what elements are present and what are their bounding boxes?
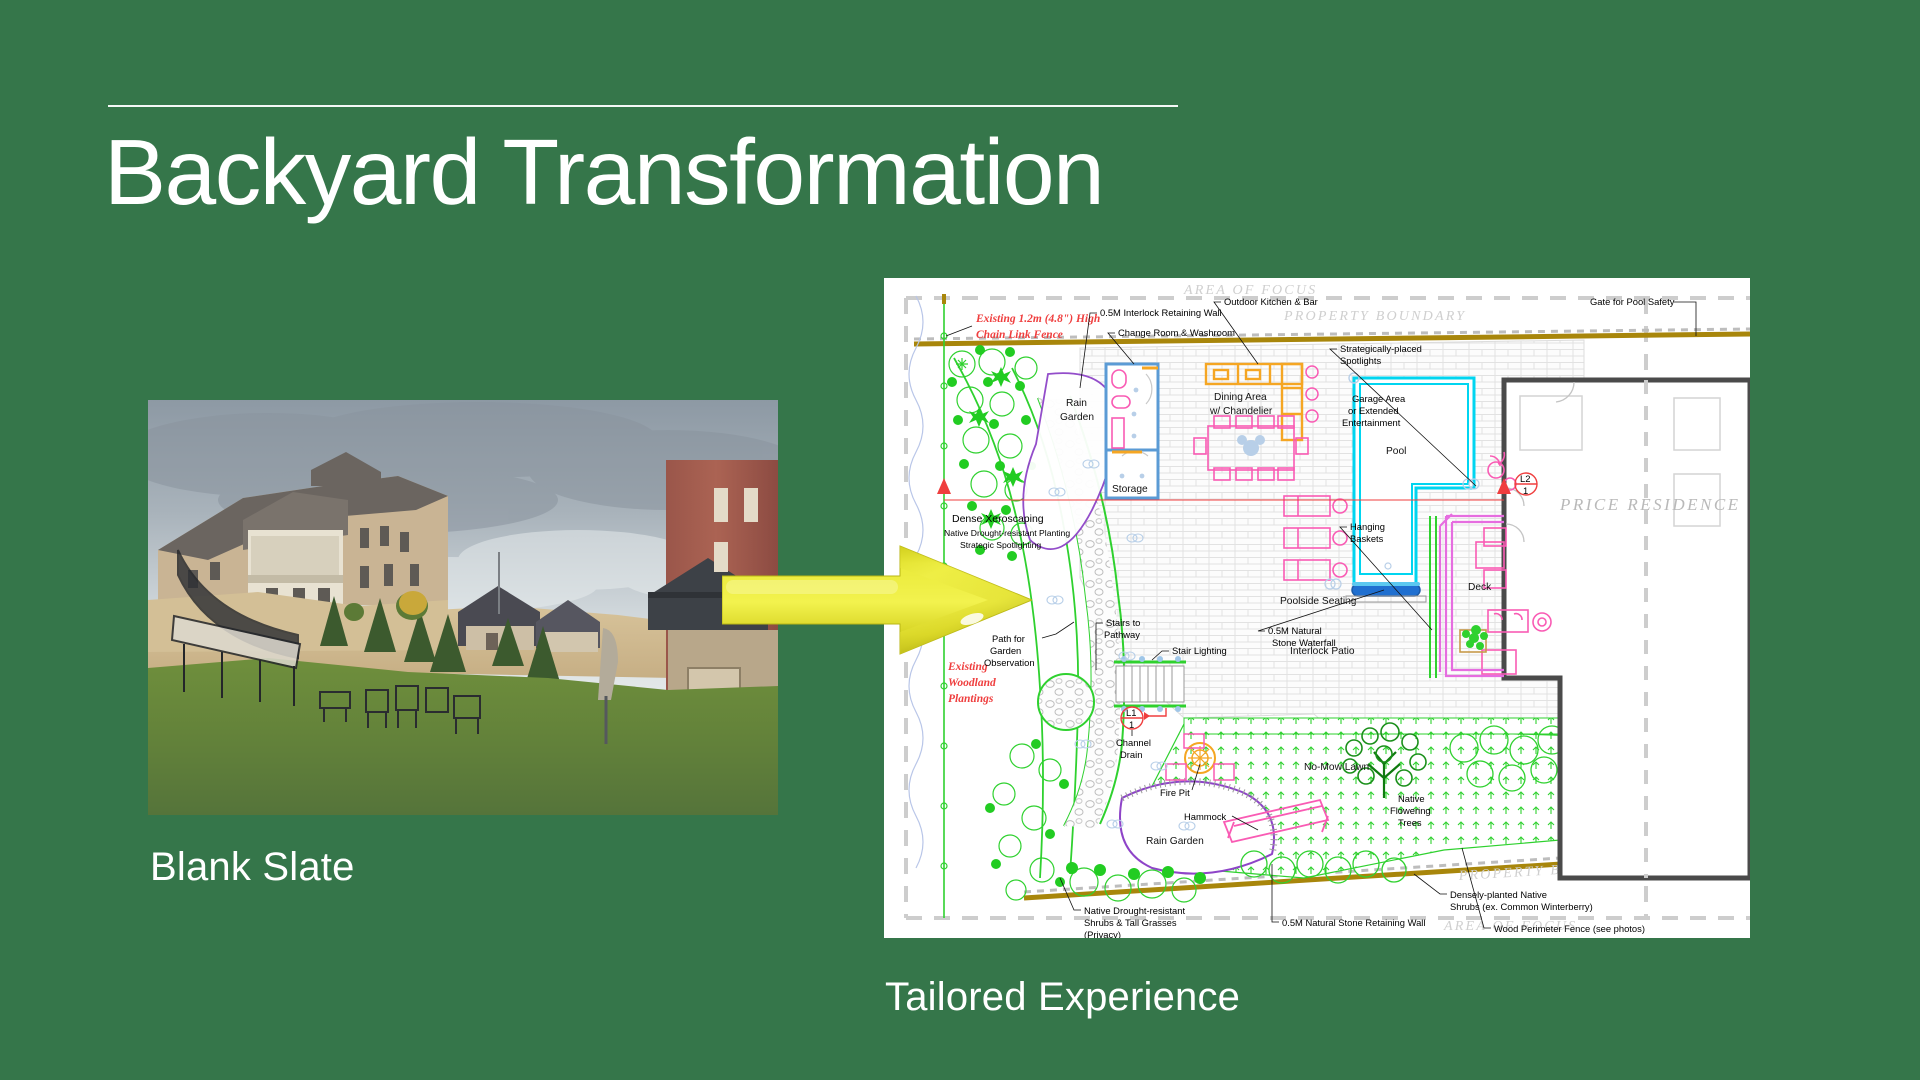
svg-text:Existing 1.2m (4.8") High: Existing 1.2m (4.8") High [975,313,1100,325]
before-caption: Blank Slate [150,845,355,890]
area-label-deck: Deck [1468,582,1492,593]
svg-text:Existing: Existing [947,661,988,673]
xeriscape-line2: Native Drought-resistant Planting [944,528,1070,538]
svg-text:Drain: Drain [1120,749,1142,760]
svg-text:Channel: Channel [1116,737,1151,748]
svg-text:Native Drought-resistant: Native Drought-resistant [1084,905,1185,916]
area-label-poolside-seating: Poolside Seating [1280,596,1357,607]
area-label-interlock-patio: Interlock Patio [1290,646,1355,657]
svg-text:Shrubs (ex. Common Winterberry: Shrubs (ex. Common Winterberry) [1450,901,1593,912]
svg-text:(Privacy): (Privacy) [1084,929,1121,938]
svg-text:Path for: Path for [992,633,1025,644]
svg-text:Woodland: Woodland [948,677,996,689]
svg-text:Trees: Trees [1398,817,1422,828]
svg-text:Observation: Observation [984,657,1035,668]
after-caption: Tailored Experience [885,975,1240,1020]
svg-text:Hanging: Hanging [1350,521,1385,532]
site-plan-artwork: .cl {font-family:"Liberation Sans",sans-… [884,278,1750,938]
area-label-storage: Storage [1112,484,1148,495]
svg-text:Stairs to: Stairs to [1106,617,1140,628]
detail-marker-L2-top: L2 [1520,473,1530,484]
svg-text:Stair Lighting: Stair Lighting [1172,645,1227,656]
change-room-building: Storage [1106,364,1158,498]
area-label-rain-garden-top2: Garden [1060,412,1094,423]
svg-text:Pathway: Pathway [1104,629,1140,640]
svg-text:Baskets: Baskets [1350,533,1384,544]
svg-text:Fire Pit: Fire Pit [1160,787,1190,798]
xeriscape-line3: Strategic Spotlighting [960,540,1041,550]
svg-text:Densely-planted Native: Densely-planted Native [1450,889,1547,900]
svg-text:0.5M Natural Stone Retaining W: 0.5M Natural Stone Retaining Wall [1282,917,1425,928]
svg-text:Plantings: Plantings [948,693,994,705]
watermark-price-residence: PRICE RESIDENCE [1559,495,1741,514]
area-label-pool: Pool [1386,446,1406,457]
callout-garage-area: Garage Area or Extended Entertainment [1342,393,1406,428]
svg-text:Hammock: Hammock [1184,811,1227,822]
svg-text:0.5M Natural: 0.5M Natural [1268,625,1322,636]
svg-text:Flowering: Flowering [1390,805,1431,816]
svg-text:Garage Area: Garage Area [1352,393,1406,404]
watermark-property-boundary-top: PROPERTY BOUNDARY [1283,309,1466,324]
before-photo-artwork [148,400,778,815]
page-title: Backyard Transformation [104,124,1103,222]
svg-text:Shrubs & Tall Grasses: Shrubs & Tall Grasses [1084,917,1177,928]
svg-text:Wood Perimeter Fence (see phot: Wood Perimeter Fence (see photos) [1494,923,1645,934]
slide-root: Backyard Transformation [0,0,1920,1080]
after-site-plan: .cl {font-family:"Liberation Sans",sans-… [884,278,1750,938]
svg-text:or Extended: or Extended [1348,405,1399,416]
header-divider [108,105,1178,107]
area-label-dining-1: Dining Area [1214,392,1267,403]
detail-marker-L2-bottom: 1 [1523,485,1528,496]
svg-text:Strategically-placed: Strategically-placed [1340,343,1422,354]
area-label-rain-garden-bottom: Rain Garden [1146,836,1204,847]
svg-text:Garden: Garden [990,645,1021,656]
svg-text:0.5M Interlock Retaining Wall: 0.5M Interlock Retaining Wall [1100,307,1222,318]
svg-text:Outdoor Kitchen & Bar: Outdoor Kitchen & Bar [1224,296,1318,307]
detail-marker-L1-top: L1 [1126,707,1136,718]
before-photo [148,400,778,815]
xeriscape-heading: Dense Xeroscaping [952,513,1044,525]
detail-marker-L1-bottom: 1 [1129,719,1134,730]
area-label-rain-garden-top: Rain [1066,398,1087,409]
area-label-no-mow-lawn: No-Mow Lawn [1304,762,1369,773]
svg-text:Entertainment: Entertainment [1342,417,1401,428]
svg-text:Chain Link Fence: Chain Link Fence [976,329,1063,341]
svg-text:Gate for Pool Safety: Gate for Pool Safety [1590,296,1675,307]
svg-text:Native: Native [1398,793,1425,804]
svg-text:Change Room & Washroom: Change Room & Washroom [1118,327,1235,338]
